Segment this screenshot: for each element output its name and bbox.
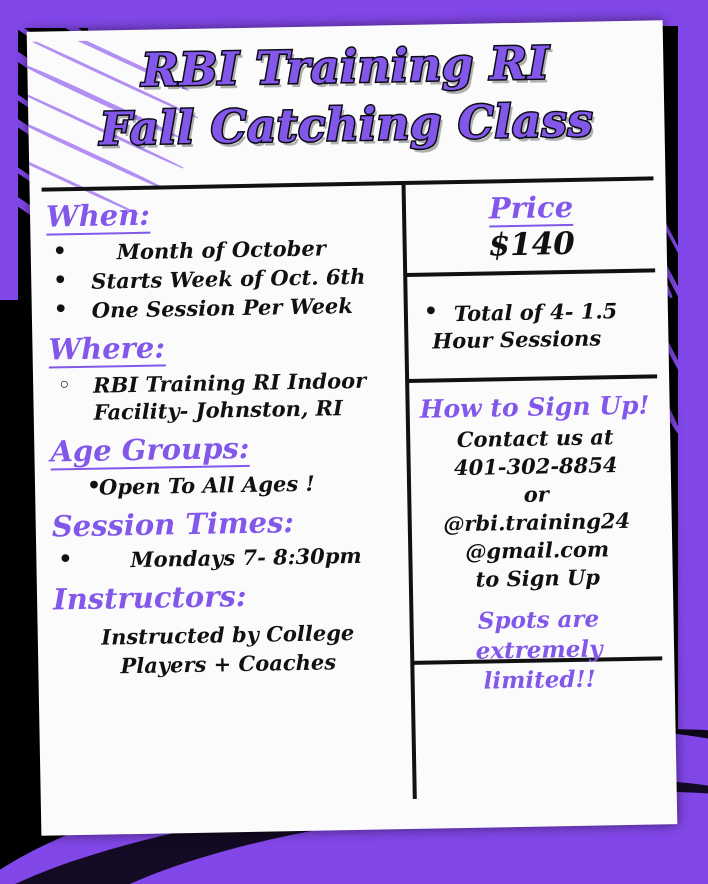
right-column: Price $140 Total of 4- 1.5 Hour Sessions… xyxy=(408,182,663,699)
contact-email-domain[interactable]: @gmail.com xyxy=(414,534,660,566)
price-detail-line-1: Total of 4- 1.5 xyxy=(454,297,650,328)
flyer-title: RBI Training RI Fall Catching Class xyxy=(27,32,665,160)
section-age-groups: Age Groups: Open To All Ages ! xyxy=(42,422,403,502)
age-groups-list: Open To All Ages ! xyxy=(43,468,403,502)
section-when: When: Month of October Starts Week of Oc… xyxy=(38,187,400,325)
section-where: Where: RBI Training RI Indoor Facility- … xyxy=(40,320,402,427)
contact-intro: Contact us at xyxy=(412,422,658,454)
where-line-2: Facility- Johnston, RI xyxy=(93,393,401,426)
section-session-times: Session Times: Mondays 7- 8:30pm xyxy=(43,497,404,575)
list-item: Mondays 7- 8:30pm xyxy=(44,541,404,575)
notice-line-2: extremely limited!! xyxy=(416,633,663,697)
where-line-1: RBI Training RI Indoor xyxy=(93,366,401,399)
list-item: Month of October xyxy=(38,233,398,267)
notice-text: Spots are extremely limited!! xyxy=(415,603,663,697)
where-list: RBI Training RI Indoor Facility- Johnsto… xyxy=(41,366,402,427)
section-sign-up: How to Sign Up! Contact us at 401-302-88… xyxy=(411,390,661,593)
list-item: RBI Training RI Indoor Facility- Johnsto… xyxy=(41,366,402,427)
when-heading: When: xyxy=(46,198,151,236)
price-amount: $140 xyxy=(408,224,655,265)
flyer-paper: RBI Training RI Fall Catching Class When… xyxy=(27,20,678,836)
contact-or: or xyxy=(413,478,659,510)
flyer-canvas: RBI Training RI Fall Catching Class When… xyxy=(0,0,708,884)
session-times-heading: Session Times: xyxy=(51,505,294,543)
session-times-list: Mondays 7- 8:30pm xyxy=(44,541,404,575)
list-item: Starts Week of Oct. 6th xyxy=(39,262,399,296)
instructors-text: Instructed by College Players + Coaches xyxy=(60,618,397,680)
instructors-line-2: Players + Coaches xyxy=(60,647,396,680)
contact-closing: to Sign Up xyxy=(415,562,661,594)
list-item: Open To All Ages ! xyxy=(43,468,403,502)
contact-phone[interactable]: 401-302-8854 xyxy=(413,450,659,482)
price-detail-line-2: Hour Sessions xyxy=(432,324,650,355)
section-notice: Spots are extremely limited!! xyxy=(415,603,663,697)
instructors-line-1: Instructed by College xyxy=(60,618,396,651)
contact-block: Contact us at 401-302-8854 or @rbi.train… xyxy=(412,422,661,593)
section-instructors: Instructors: Instructed by College Playe… xyxy=(45,570,407,681)
section-price-detail: Total of 4- 1.5 Hour Sessions xyxy=(410,296,657,354)
when-list: Month of October Starts Week of Oct. 6th… xyxy=(38,233,399,325)
sign-up-heading: How to Sign Up! xyxy=(411,390,658,425)
age-groups-heading: Age Groups: xyxy=(50,431,250,471)
section-price: Price $140 xyxy=(408,188,655,264)
list-item: One Session Per Week xyxy=(40,291,400,325)
notice-line-1: Spots are xyxy=(415,603,662,638)
instructors-heading: Instructors: xyxy=(53,579,247,617)
price-detail: Total of 4- 1.5 Hour Sessions xyxy=(410,297,651,355)
contact-handle[interactable]: @rbi.training24 xyxy=(414,506,660,538)
left-column: When: Month of October Starts Week of Oc… xyxy=(38,187,407,683)
where-heading: Where: xyxy=(48,330,165,368)
price-heading: Price xyxy=(408,188,655,227)
title-line-2: Fall Catching Class xyxy=(28,90,665,160)
